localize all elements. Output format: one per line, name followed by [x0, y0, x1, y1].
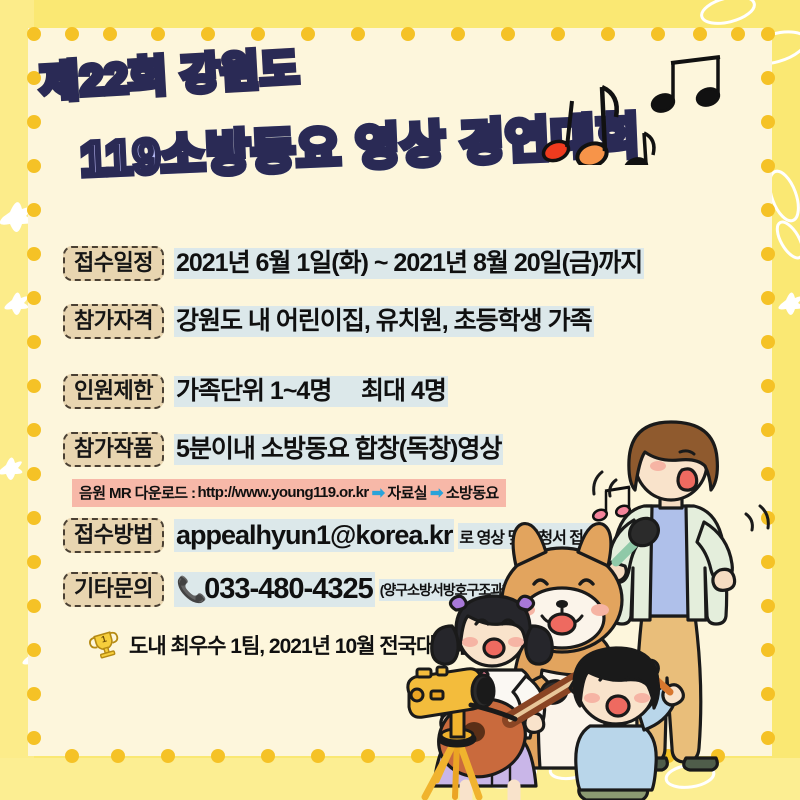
info-tag-schedule: 접수일정	[63, 246, 164, 281]
info-row-participants: 인원제한 가족단위 1~4명 최대 4명	[63, 374, 448, 409]
phone-icon: 📞	[176, 576, 206, 604]
orange-eighth-note	[574, 87, 617, 165]
mr-step-1: 자료실	[387, 482, 427, 503]
info-tag-eligibility: 참가자격	[63, 304, 164, 339]
info-tag-participants: 인원제한	[63, 374, 164, 409]
poster-canvas: 제22회 강원도 119소방동요 영상 경연대회	[0, 0, 800, 800]
info-tag-submission: 접수방법	[63, 518, 164, 553]
mr-label: 음원 MR 다운로드 :	[79, 482, 195, 503]
info-value-schedule: 2021년 6월 1일(화) ~ 2021년 8월 20일(금)까지	[174, 248, 644, 279]
phone-number-text: 033-480-4325	[204, 573, 373, 605]
info-value-eligibility: 강원도 내 어린이집, 유치원, 초등학생 가족	[174, 306, 594, 337]
video-camera-tripod-icon	[395, 665, 575, 800]
red-eighth-note	[541, 101, 572, 164]
trophy-icon: 1	[88, 628, 122, 662]
black-eighth-note	[623, 133, 654, 165]
info-row-eligibility: 참가자격 강원도 내 어린이집, 유치원, 초등학생 가족	[63, 304, 594, 339]
info-value-email[interactable]: appealhyun1@korea.kr	[174, 519, 454, 552]
info-row-schedule: 접수일정 2021년 6월 1일(화) ~ 2021년 8월 20일(금)까지	[63, 246, 644, 281]
mr-url-link[interactable]: http://www.young119.or.kr	[197, 484, 368, 501]
arrow-right-icon: ➡	[372, 483, 385, 503]
info-tag-entry: 참가작품	[63, 432, 164, 467]
black-beamed-notes	[650, 57, 721, 114]
info-value-phone[interactable]: 📞033-480-4325	[174, 572, 375, 607]
music-notes-group	[530, 55, 760, 165]
info-value-participants: 가족단위 1~4명 최대 4명	[174, 376, 448, 407]
info-tag-contact: 기타문의	[63, 572, 164, 607]
